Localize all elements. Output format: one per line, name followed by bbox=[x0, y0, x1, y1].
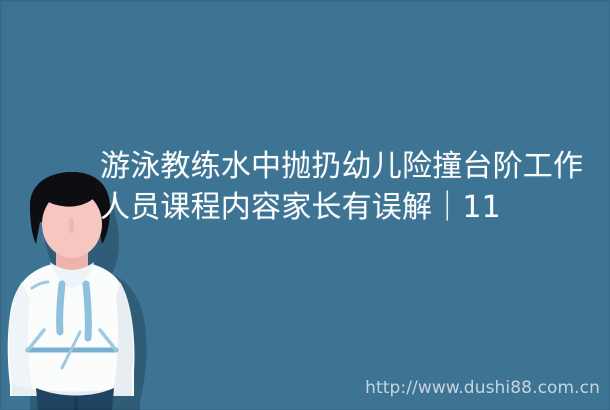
drawstring-left bbox=[60, 284, 62, 332]
image-card: 游泳教练水中抛扔幼儿险撞台阶工作人员课程内容家长有误解｜11 http://ww… bbox=[0, 0, 610, 410]
page-title: 游泳教练水中抛扔幼儿险撞台阶工作人员课程内容家长有误解｜11 bbox=[100, 146, 592, 228]
drawstring-right bbox=[86, 284, 88, 338]
watermark-url: http://www.dushi88.com.cn bbox=[365, 378, 600, 398]
